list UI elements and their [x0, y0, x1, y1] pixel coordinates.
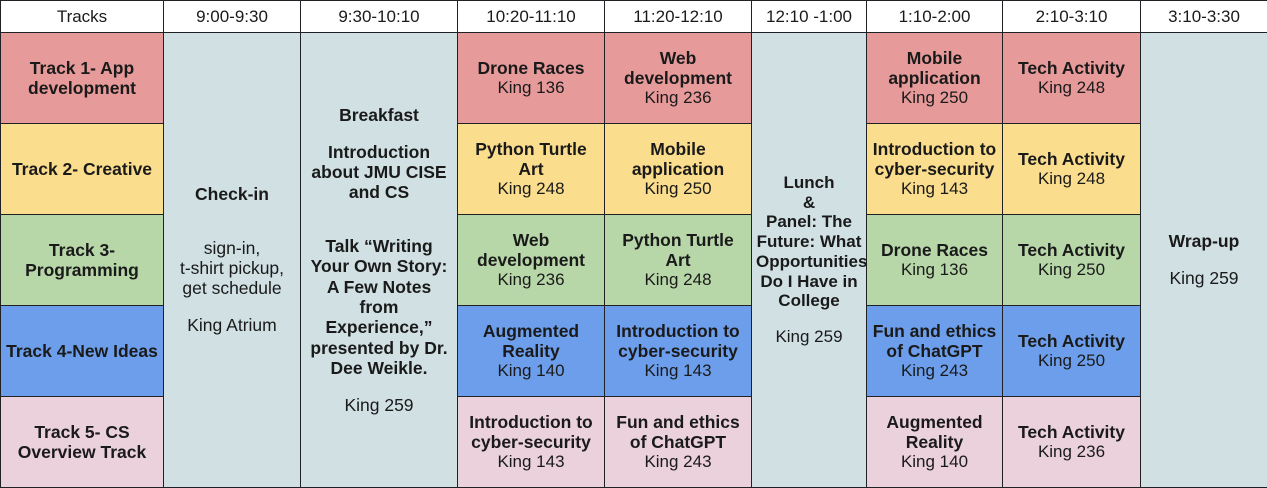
- session-room: King 250: [609, 179, 747, 199]
- session-room: King 248: [609, 270, 747, 290]
- session-track4-0210: Tech Activity King 250: [1003, 306, 1141, 397]
- session-track1-0210: Tech Activity King 248: [1003, 33, 1141, 124]
- session-track1-1120: Web development King 236: [605, 33, 752, 124]
- session-track5-1120: Fun and ethics of ChatGPT King 243: [605, 397, 752, 488]
- session-room: King 248: [1007, 169, 1136, 189]
- session-room: King 243: [609, 452, 747, 472]
- session-title: Mobile application: [609, 139, 747, 180]
- session-track3-1120: Python Turtle Art King 248: [605, 215, 752, 306]
- session-track2-0110: Introduction to cyber-security King 143: [867, 124, 1003, 215]
- breakfast-intro: Introduction about JMU CISE and CS: [305, 142, 453, 203]
- spacer: [305, 378, 453, 395]
- spacer: [305, 219, 453, 236]
- wrapup-room: King 259: [1145, 268, 1263, 288]
- session-title: Web development: [462, 230, 600, 271]
- wrapup-cell: Wrap-up King 259: [1141, 33, 1267, 488]
- session-title: Tech Activity: [1007, 149, 1136, 169]
- session-title: Introduction to cyber-security: [871, 139, 998, 180]
- checkin-cell: Check-in sign-in, t-shirt pickup, get sc…: [164, 33, 301, 488]
- session-title: Augmented Reality: [462, 321, 600, 362]
- column-header-0900-0930: 9:00-9:30: [164, 1, 301, 33]
- session-room: King 236: [609, 88, 747, 108]
- session-track2-1120: Mobile application King 250: [605, 124, 752, 215]
- session-track3-0110: Drone Races King 136: [867, 215, 1003, 306]
- session-title: Fun and ethics of ChatGPT: [871, 321, 998, 362]
- track-label-1: Track 1- App development: [1, 33, 164, 124]
- spacer: [305, 125, 453, 142]
- session-room: King 250: [1007, 351, 1136, 371]
- column-header-1020-1110: 10:20-11:10: [458, 1, 605, 33]
- session-room: King 140: [462, 361, 600, 381]
- column-header-0930-1010: 9:30-10:10: [301, 1, 458, 33]
- session-room: King 236: [462, 270, 600, 290]
- session-room: King 243: [871, 361, 998, 381]
- session-track1-1020: Drone Races King 136: [458, 33, 605, 124]
- session-title: Mobile application: [871, 48, 998, 89]
- checkin-title: Check-in: [168, 184, 296, 204]
- wrapup-title: Wrap-up: [1145, 231, 1263, 251]
- session-room: King 250: [1007, 260, 1136, 280]
- lunch-room: King 259: [756, 327, 862, 347]
- lunch-title: Lunch: [756, 173, 862, 193]
- session-room: King 136: [462, 78, 600, 98]
- session-title: Drone Races: [462, 58, 600, 78]
- session-title: Python Turtle Art: [609, 230, 747, 271]
- spacer: [168, 299, 296, 316]
- session-track4-1020: Augmented Reality King 140: [458, 306, 605, 397]
- schedule-table: Tracks 9:00-9:30 9:30-10:10 10:20-11:10 …: [0, 0, 1267, 488]
- session-room: King 136: [871, 260, 998, 280]
- track-label-3: Track 3- Programming: [1, 215, 164, 306]
- session-title: Tech Activity: [1007, 58, 1136, 78]
- checkin-detail-1: sign-in,: [168, 238, 296, 258]
- session-track5-0110: Augmented Reality King 140: [867, 397, 1003, 488]
- session-track5-1020: Introduction to cyber-security King 143: [458, 397, 605, 488]
- spacer: [756, 311, 862, 327]
- session-room: King 248: [1007, 78, 1136, 98]
- spacer: [305, 203, 453, 220]
- checkin-room: King Atrium: [168, 315, 296, 335]
- spacer: [168, 221, 296, 238]
- session-room: King 143: [871, 179, 998, 199]
- column-header-0310-0330: 3:10-3:30: [1141, 1, 1267, 33]
- breakfast-talk: Talk “Writing Your Own Story: A Few Note…: [305, 236, 453, 378]
- session-room: King 236: [1007, 442, 1136, 462]
- column-header-1210-0100: 12:10 -1:00: [752, 1, 867, 33]
- session-track4-0110: Fun and ethics of ChatGPT King 243: [867, 306, 1003, 397]
- session-title: Tech Activity: [1007, 240, 1136, 260]
- session-room: King 140: [871, 452, 998, 472]
- session-room: King 143: [609, 361, 747, 381]
- session-track3-0210: Tech Activity King 250: [1003, 215, 1141, 306]
- lunch-panel: Panel: The Future: What Opportunities Do…: [756, 212, 862, 311]
- table-header-row: Tracks 9:00-9:30 9:30-10:10 10:20-11:10 …: [1, 1, 1267, 33]
- session-title: Fun and ethics of ChatGPT: [609, 412, 747, 453]
- session-track3-1020: Web development King 236: [458, 215, 605, 306]
- session-title: Drone Races: [871, 240, 998, 260]
- session-room: King 248: [462, 179, 600, 199]
- track-label-4: Track 4-New Ideas: [1, 306, 164, 397]
- column-header-0210-0310: 2:10-3:10: [1003, 1, 1141, 33]
- session-track5-0210: Tech Activity King 236: [1003, 397, 1141, 488]
- checkin-detail-2: t-shirt pickup,: [168, 258, 296, 278]
- session-title: Python Turtle Art: [462, 139, 600, 180]
- breakfast-room: King 259: [305, 395, 453, 415]
- spacer: [168, 205, 296, 222]
- table-row-track-1: Track 1- App development Check-in sign-i…: [1, 33, 1267, 124]
- session-title: Augmented Reality: [871, 412, 998, 453]
- track-label-5: Track 5- CS Overview Track: [1, 397, 164, 488]
- session-title: Introduction to cyber-security: [609, 321, 747, 362]
- session-track1-0110: Mobile application King 250: [867, 33, 1003, 124]
- session-track2-0210: Tech Activity King 248: [1003, 124, 1141, 215]
- breakfast-title: Breakfast: [305, 105, 453, 125]
- session-title: Tech Activity: [1007, 331, 1136, 351]
- lunch-ampersand: &: [756, 193, 862, 213]
- session-room: King 250: [871, 88, 998, 108]
- lunch-panel-cell: Lunch & Panel: The Future: What Opportun…: [752, 33, 867, 488]
- column-header-1120-1210: 11:20-12:10: [605, 1, 752, 33]
- track-label-2: Track 2- Creative: [1, 124, 164, 215]
- session-title: Web development: [609, 48, 747, 89]
- session-room: King 143: [462, 452, 600, 472]
- column-header-0110-0200: 1:10-2:00: [867, 1, 1003, 33]
- session-title: Tech Activity: [1007, 422, 1136, 442]
- spacer: [1145, 252, 1263, 269]
- session-title: Introduction to cyber-security: [462, 412, 600, 453]
- breakfast-cell: Breakfast Introduction about JMU CISE an…: [301, 33, 458, 488]
- session-track2-1020: Python Turtle Art King 248: [458, 124, 605, 215]
- column-header-tracks: Tracks: [1, 1, 164, 33]
- checkin-detail-3: get schedule: [168, 278, 296, 298]
- session-track4-1120: Introduction to cyber-security King 143: [605, 306, 752, 397]
